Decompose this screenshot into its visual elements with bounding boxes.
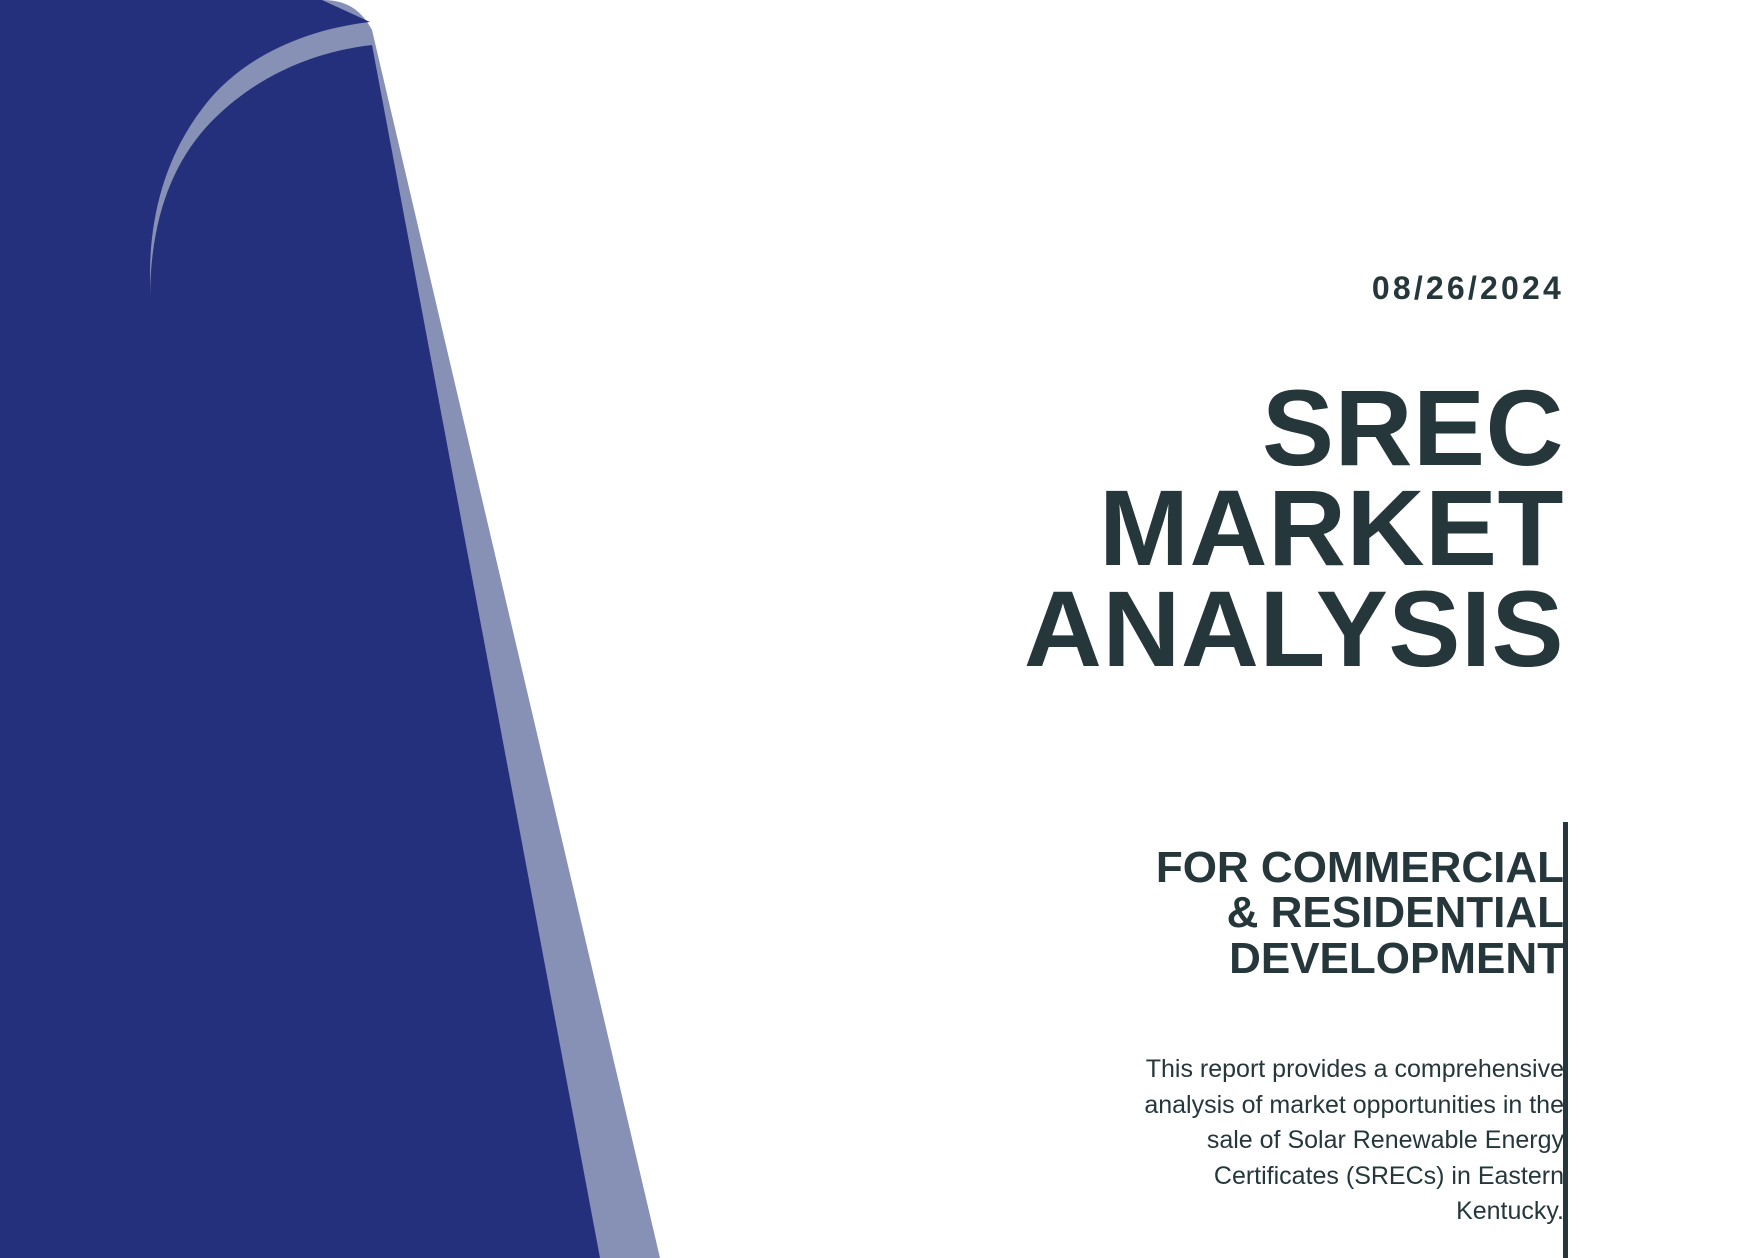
cover-text-column: 08/26/2024 SREC MARKET ANALYSIS FOR COMM… — [0, 0, 1744, 1258]
cover-date: 08/26/2024 — [1372, 272, 1564, 304]
report-cover: 08/26/2024 SREC MARKET ANALYSIS FOR COMM… — [0, 0, 1744, 1258]
cover-description: This report provides a comprehensive ana… — [1144, 1052, 1564, 1230]
page-subtitle-line-3: DEVELOPMENT — [864, 936, 1564, 981]
page-subtitle-line-1: FOR COMMERCIAL — [864, 845, 1564, 890]
page-title-line-2: MARKET — [824, 478, 1564, 578]
page-subtitle: FOR COMMERCIAL & RESIDENTIAL DEVELOPMENT — [864, 845, 1564, 981]
page-title-line-1: SREC — [824, 378, 1564, 478]
page-subtitle-line-2: & RESIDENTIAL — [864, 890, 1564, 935]
vertical-rule — [1563, 822, 1568, 1258]
page-title-line-3: ANALYSIS — [824, 579, 1564, 679]
page-title: SREC MARKET ANALYSIS — [824, 378, 1564, 679]
